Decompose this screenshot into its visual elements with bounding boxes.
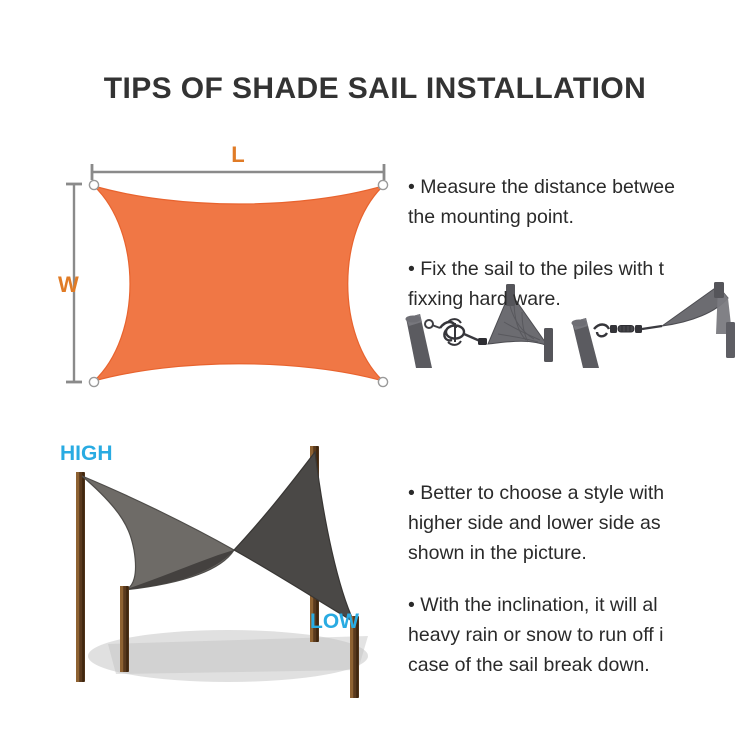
tip-style-line-1: higher side and lower side as	[408, 508, 750, 538]
post-back-left	[76, 472, 85, 682]
shade-sail-light	[82, 476, 234, 590]
tip-inclination-line-1: heavy rain or snow to run off i	[408, 620, 750, 650]
orange-sail-shape	[94, 186, 383, 381]
tip-fix-line-1: fixxing hard ware.	[408, 284, 750, 314]
length-label: L	[231, 142, 244, 167]
infographic-page: TIPS OF SHADE SAIL INSTALLATION	[0, 0, 750, 750]
tip-fix: • Fix the sail to the piles with t fixxi…	[408, 254, 750, 314]
tip-fix-line-0: • Fix the sail to the piles with t	[408, 254, 750, 284]
tips-list-bottom: • Better to choose a style with higher s…	[408, 458, 750, 680]
mounting-post-right	[572, 318, 600, 368]
tip-measure: • Measure the distance betwee the mounti…	[408, 172, 750, 232]
low-label: LOW	[310, 610, 359, 633]
turnbuckle-chain	[594, 325, 662, 337]
inclined-sail-diagram: HIGH LOW	[38, 438, 410, 708]
page-title: TIPS OF SHADE SAIL INSTALLATION	[0, 72, 750, 106]
tip-inclination-line-0: • With the inclination, it will al	[408, 590, 750, 620]
high-label: HIGH	[60, 442, 113, 465]
carabiner-hook	[440, 319, 464, 345]
tip-measure-line-0: • Measure the distance betwee	[408, 172, 750, 202]
tip-inclination-line-2: case of the sail break down.	[408, 650, 750, 680]
post-front-left	[120, 586, 129, 672]
inclined-sail-svg: HIGH LOW	[38, 438, 410, 708]
tips-list-top: • Measure the distance betwee the mounti…	[408, 152, 750, 314]
tip-style-line-0: • Better to choose a style with	[408, 478, 750, 508]
connector-cable-left	[464, 334, 480, 341]
width-label: W	[58, 272, 79, 297]
cable-clamp	[478, 338, 487, 345]
tip-measure-line-1: the mounting point.	[408, 202, 750, 232]
shade-sail-dark	[234, 452, 354, 622]
tip-inclination: • With the inclination, it will al heavy…	[408, 590, 750, 680]
rectangular-sail-svg: L W	[58, 140, 398, 402]
tip-style-line-2: shown in the picture.	[408, 538, 750, 568]
rectangular-sail-diagram: L W	[58, 140, 398, 402]
eye-bolt	[425, 320, 440, 328]
mounting-post-left	[406, 314, 433, 368]
tip-style: • Better to choose a style with higher s…	[408, 478, 750, 568]
